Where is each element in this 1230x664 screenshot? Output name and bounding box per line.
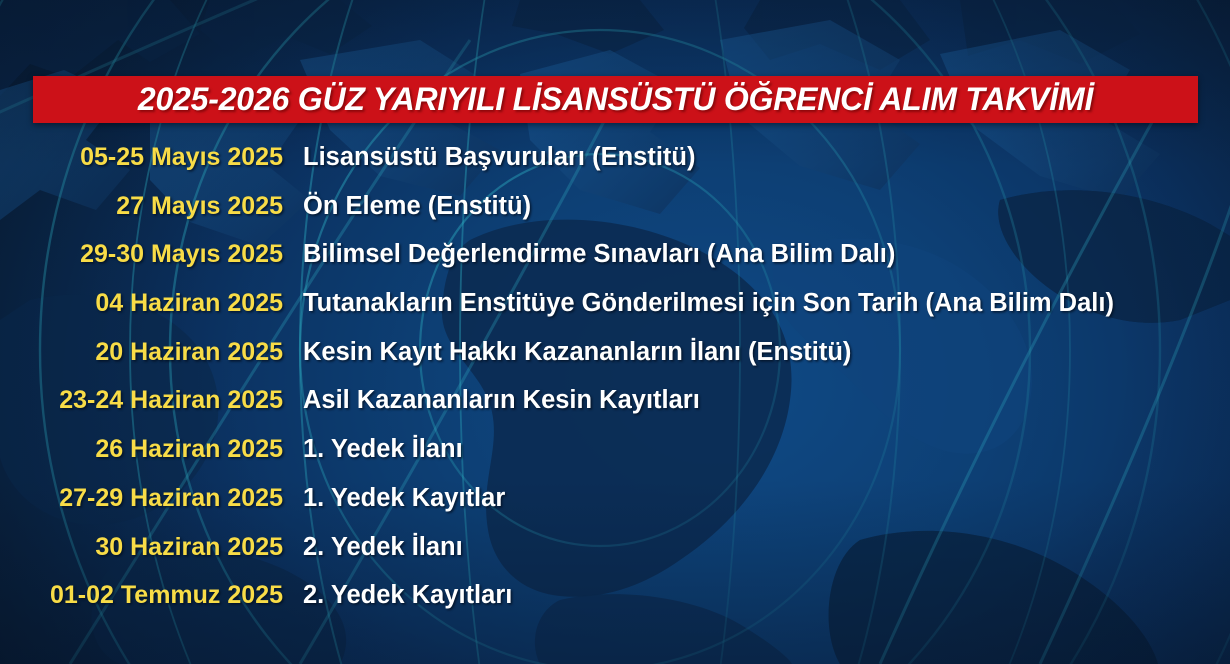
row-date: 27-29 Haziran 2025 [0,474,283,523]
row-date: 27 Mayıs 2025 [0,182,283,231]
table-row: 04 Haziran 2025 Tutanakların Enstitüye G… [0,279,1230,328]
table-row: 01-02 Temmuz 2025 2. Yedek Kayıtları [0,571,1230,620]
row-description: Tutanakların Enstitüye Gönderilmesi için… [283,279,1114,328]
table-row: 27 Mayıs 2025 Ön Eleme (Enstitü) [0,182,1230,231]
row-date: 29-30 Mayıs 2025 [0,230,283,279]
row-date: 20 Haziran 2025 [0,328,283,377]
row-description: Ön Eleme (Enstitü) [283,182,531,231]
row-description: 2. Yedek Kayıtları [283,571,512,620]
table-row: 23-24 Haziran 2025 Asil Kazananların Kes… [0,376,1230,425]
row-description: 1. Yedek Kayıtlar [283,474,505,523]
table-row: 05-25 Mayıs 2025 Lisansüstü Başvuruları … [0,133,1230,182]
table-row: 26 Haziran 2025 1. Yedek İlanı [0,425,1230,474]
row-date: 05-25 Mayıs 2025 [0,133,283,182]
row-date: 30 Haziran 2025 [0,523,283,572]
row-description: Lisansüstü Başvuruları (Enstitü) [283,133,696,182]
schedule-list: 05-25 Mayıs 2025 Lisansüstü Başvuruları … [0,133,1230,620]
row-date: 04 Haziran 2025 [0,279,283,328]
row-description: 1. Yedek İlanı [283,425,463,474]
row-date: 01-02 Temmuz 2025 [0,571,283,620]
row-date: 23-24 Haziran 2025 [0,376,283,425]
table-row: 30 Haziran 2025 2. Yedek İlanı [0,523,1230,572]
table-row: 29-30 Mayıs 2025 Bilimsel Değerlendirme … [0,230,1230,279]
row-description: 2. Yedek İlanı [283,523,463,572]
row-description: Kesin Kayıt Hakkı Kazananların İlanı (En… [283,328,851,377]
row-description: Bilimsel Değerlendirme Sınavları (Ana Bi… [283,230,895,279]
table-row: 27-29 Haziran 2025 1. Yedek Kayıtlar [0,474,1230,523]
row-description: Asil Kazananların Kesin Kayıtları [283,376,700,425]
title-banner: 2025-2026 GÜZ YARIYILI LİSANSÜSTÜ ÖĞRENC… [33,76,1198,123]
row-date: 26 Haziran 2025 [0,425,283,474]
page-title: 2025-2026 GÜZ YARIYILI LİSANSÜSTÜ ÖĞRENC… [138,81,1093,118]
table-row: 20 Haziran 2025 Kesin Kayıt Hakkı Kazana… [0,328,1230,377]
